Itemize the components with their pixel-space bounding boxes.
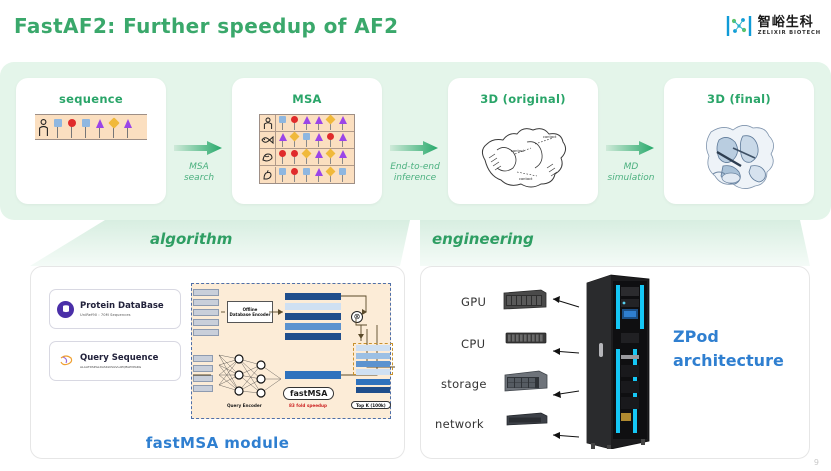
residue-pin — [93, 117, 106, 139]
residue-pin — [325, 115, 337, 131]
topk-label: Top K (100k) — [351, 401, 391, 409]
gpu-server-unit — [501, 287, 547, 311]
residue-pin — [337, 167, 349, 183]
residue-pin — [277, 115, 289, 131]
hardware-label-storage: storage — [441, 377, 487, 391]
svg-text:contact: contact — [519, 177, 533, 181]
hardware-label-network: network — [435, 417, 484, 431]
hardware-label-gpu: GPU — [461, 295, 486, 309]
pipeline-arrow-md-simulation: MD simulation — [604, 140, 658, 185]
residue-pin — [301, 149, 313, 165]
residue-pin — [289, 132, 301, 148]
server-rack-illustration — [571, 273, 657, 449]
query-sequence-card: Query Sequence ALAATDSPGLDASKLVSGVLAEQBL… — [49, 341, 181, 381]
msa-illustration — [232, 114, 382, 184]
msa-pin-group — [276, 115, 349, 131]
cpu-server-unit — [505, 331, 547, 345]
engineering-panel: GPU CPU storage network — [420, 266, 810, 459]
protein-outline-drawing: contact contact contact — [469, 114, 577, 198]
funnel-label-algorithm: algorithm — [150, 230, 232, 248]
bird-icon — [260, 149, 276, 165]
speedup-label: 83 fold speedup — [289, 403, 327, 408]
residue-pin — [313, 167, 325, 183]
pipeline-band: sequence MSA — [0, 62, 831, 220]
fish-icon — [260, 132, 276, 148]
residue-pin — [289, 115, 301, 131]
card-title-msa: MSA — [232, 92, 382, 106]
msa-pin-group — [276, 149, 349, 165]
residue-pin — [277, 149, 289, 165]
pipeline-card-3d-final: 3D (final) — [664, 78, 814, 204]
residue-pin — [301, 115, 313, 131]
topk-bar — [356, 369, 390, 375]
page-number: 9 — [814, 458, 819, 467]
funnel-label-engineering: engineering — [432, 230, 534, 248]
pipeline-card-3d-original: 3D (original) contact contact contact — [448, 78, 598, 204]
sequence-strip — [35, 114, 147, 140]
brand-logo: 智峪生科 ZELIXIR BIOTECH — [726, 14, 821, 38]
svg-text:contact: contact — [511, 149, 525, 153]
arrow-label-inference: End-to-end inference — [388, 162, 442, 185]
structure-original-illustration: contact contact contact — [448, 114, 598, 198]
fastmsa-badge: fastMSA — [283, 387, 334, 400]
sequence-illustration — [16, 114, 166, 140]
residue-pin — [289, 167, 301, 183]
logo-mark-icon — [726, 14, 752, 38]
algorithm-panel: Protein DataBase UniRef90 : 70M Sequence… — [30, 266, 405, 459]
card-title-sequence: sequence — [16, 92, 166, 106]
funnel-connectors: algorithm engineering — [0, 220, 831, 268]
residue-pin — [337, 149, 349, 165]
query-sequence-string: ALAATDSPGLDASKLVSGVLAEQBLPVPARG — [80, 365, 158, 369]
msa-row — [260, 115, 354, 132]
query-sequence-name: Query Sequence — [80, 353, 158, 363]
svg-text:contact: contact — [543, 135, 557, 139]
zpod-caption: ZPod architecture — [673, 325, 784, 373]
fastmsa-diagram: Protein DataBase UniRef90 : 70M Sequence… — [41, 279, 396, 419]
arrow-label-md-simulation: MD simulation — [604, 162, 658, 185]
hardware-label-cpu: CPU — [461, 337, 485, 351]
protein-database-card: Protein DataBase UniRef90 : 70M Sequence… — [49, 289, 181, 329]
database-icon — [57, 301, 74, 318]
zpod-caption-line2: architecture — [673, 349, 784, 373]
residue-pin — [325, 167, 337, 183]
structure-final-illustration — [664, 114, 814, 198]
msa-pin-group — [276, 132, 349, 148]
residue-pin — [51, 117, 64, 139]
msa-row — [260, 149, 354, 166]
topk-bar — [356, 387, 390, 393]
residue-pin — [277, 167, 289, 183]
msa-pin-group — [276, 167, 349, 183]
logo-english-name: ZELIXIR BIOTECH — [758, 31, 821, 36]
pipeline-arrow-msa-search: MSA search — [172, 140, 226, 185]
pipeline-card-sequence: sequence — [16, 78, 166, 204]
slide-canvas: FastAF2: Further speedup of AF2 智峪生科 ZEL… — [0, 0, 831, 471]
human-icon — [260, 115, 276, 131]
topk-bar — [356, 361, 390, 367]
residue-pin — [301, 132, 313, 148]
residue-pin — [337, 132, 349, 148]
card-title-3d-original: 3D (original) — [448, 92, 598, 106]
logo-chinese-name: 智峪生科 — [758, 16, 821, 29]
algorithm-panel-caption: fastMSA module — [31, 434, 404, 452]
residue-pin — [65, 117, 78, 139]
topk-bar — [356, 345, 390, 351]
card-title-3d-final: 3D (final) — [664, 92, 814, 106]
residue-pin — [313, 115, 325, 131]
residue-pin — [301, 167, 313, 183]
residue-pin — [107, 117, 120, 139]
rooster-icon — [260, 167, 276, 183]
residue-pin — [313, 132, 325, 148]
protein-cartoon-drawing — [689, 114, 789, 198]
residue-pin — [79, 117, 92, 139]
topk-bar — [356, 353, 390, 359]
msa-row — [260, 166, 354, 183]
pipeline-arrow-inference: End-to-end inference — [388, 140, 442, 185]
residue-pin — [325, 149, 337, 165]
organism-icon — [37, 117, 50, 139]
arrow-label-msa-search: MSA search — [172, 162, 226, 185]
page-title: FastAF2: Further speedup of AF2 — [14, 14, 398, 38]
residue-pin — [337, 115, 349, 131]
pipeline-card-msa: MSA — [232, 78, 382, 204]
residue-pin — [313, 149, 325, 165]
sequence-loop-icon — [57, 353, 74, 370]
residue-pin — [121, 117, 134, 139]
msa-row — [260, 132, 354, 149]
topk-bar — [356, 379, 390, 385]
residue-pin — [277, 132, 289, 148]
zpod-caption-line1: ZPod — [673, 325, 784, 349]
msa-matrix — [259, 114, 355, 184]
zpod-diagram: GPU CPU storage network — [421, 267, 811, 460]
protein-database-name: Protein DataBase — [80, 301, 164, 311]
protein-database-subtitle: UniRef90 : 70M Sequences — [80, 313, 164, 317]
residue-pin — [289, 149, 301, 165]
residue-pin — [325, 132, 337, 148]
